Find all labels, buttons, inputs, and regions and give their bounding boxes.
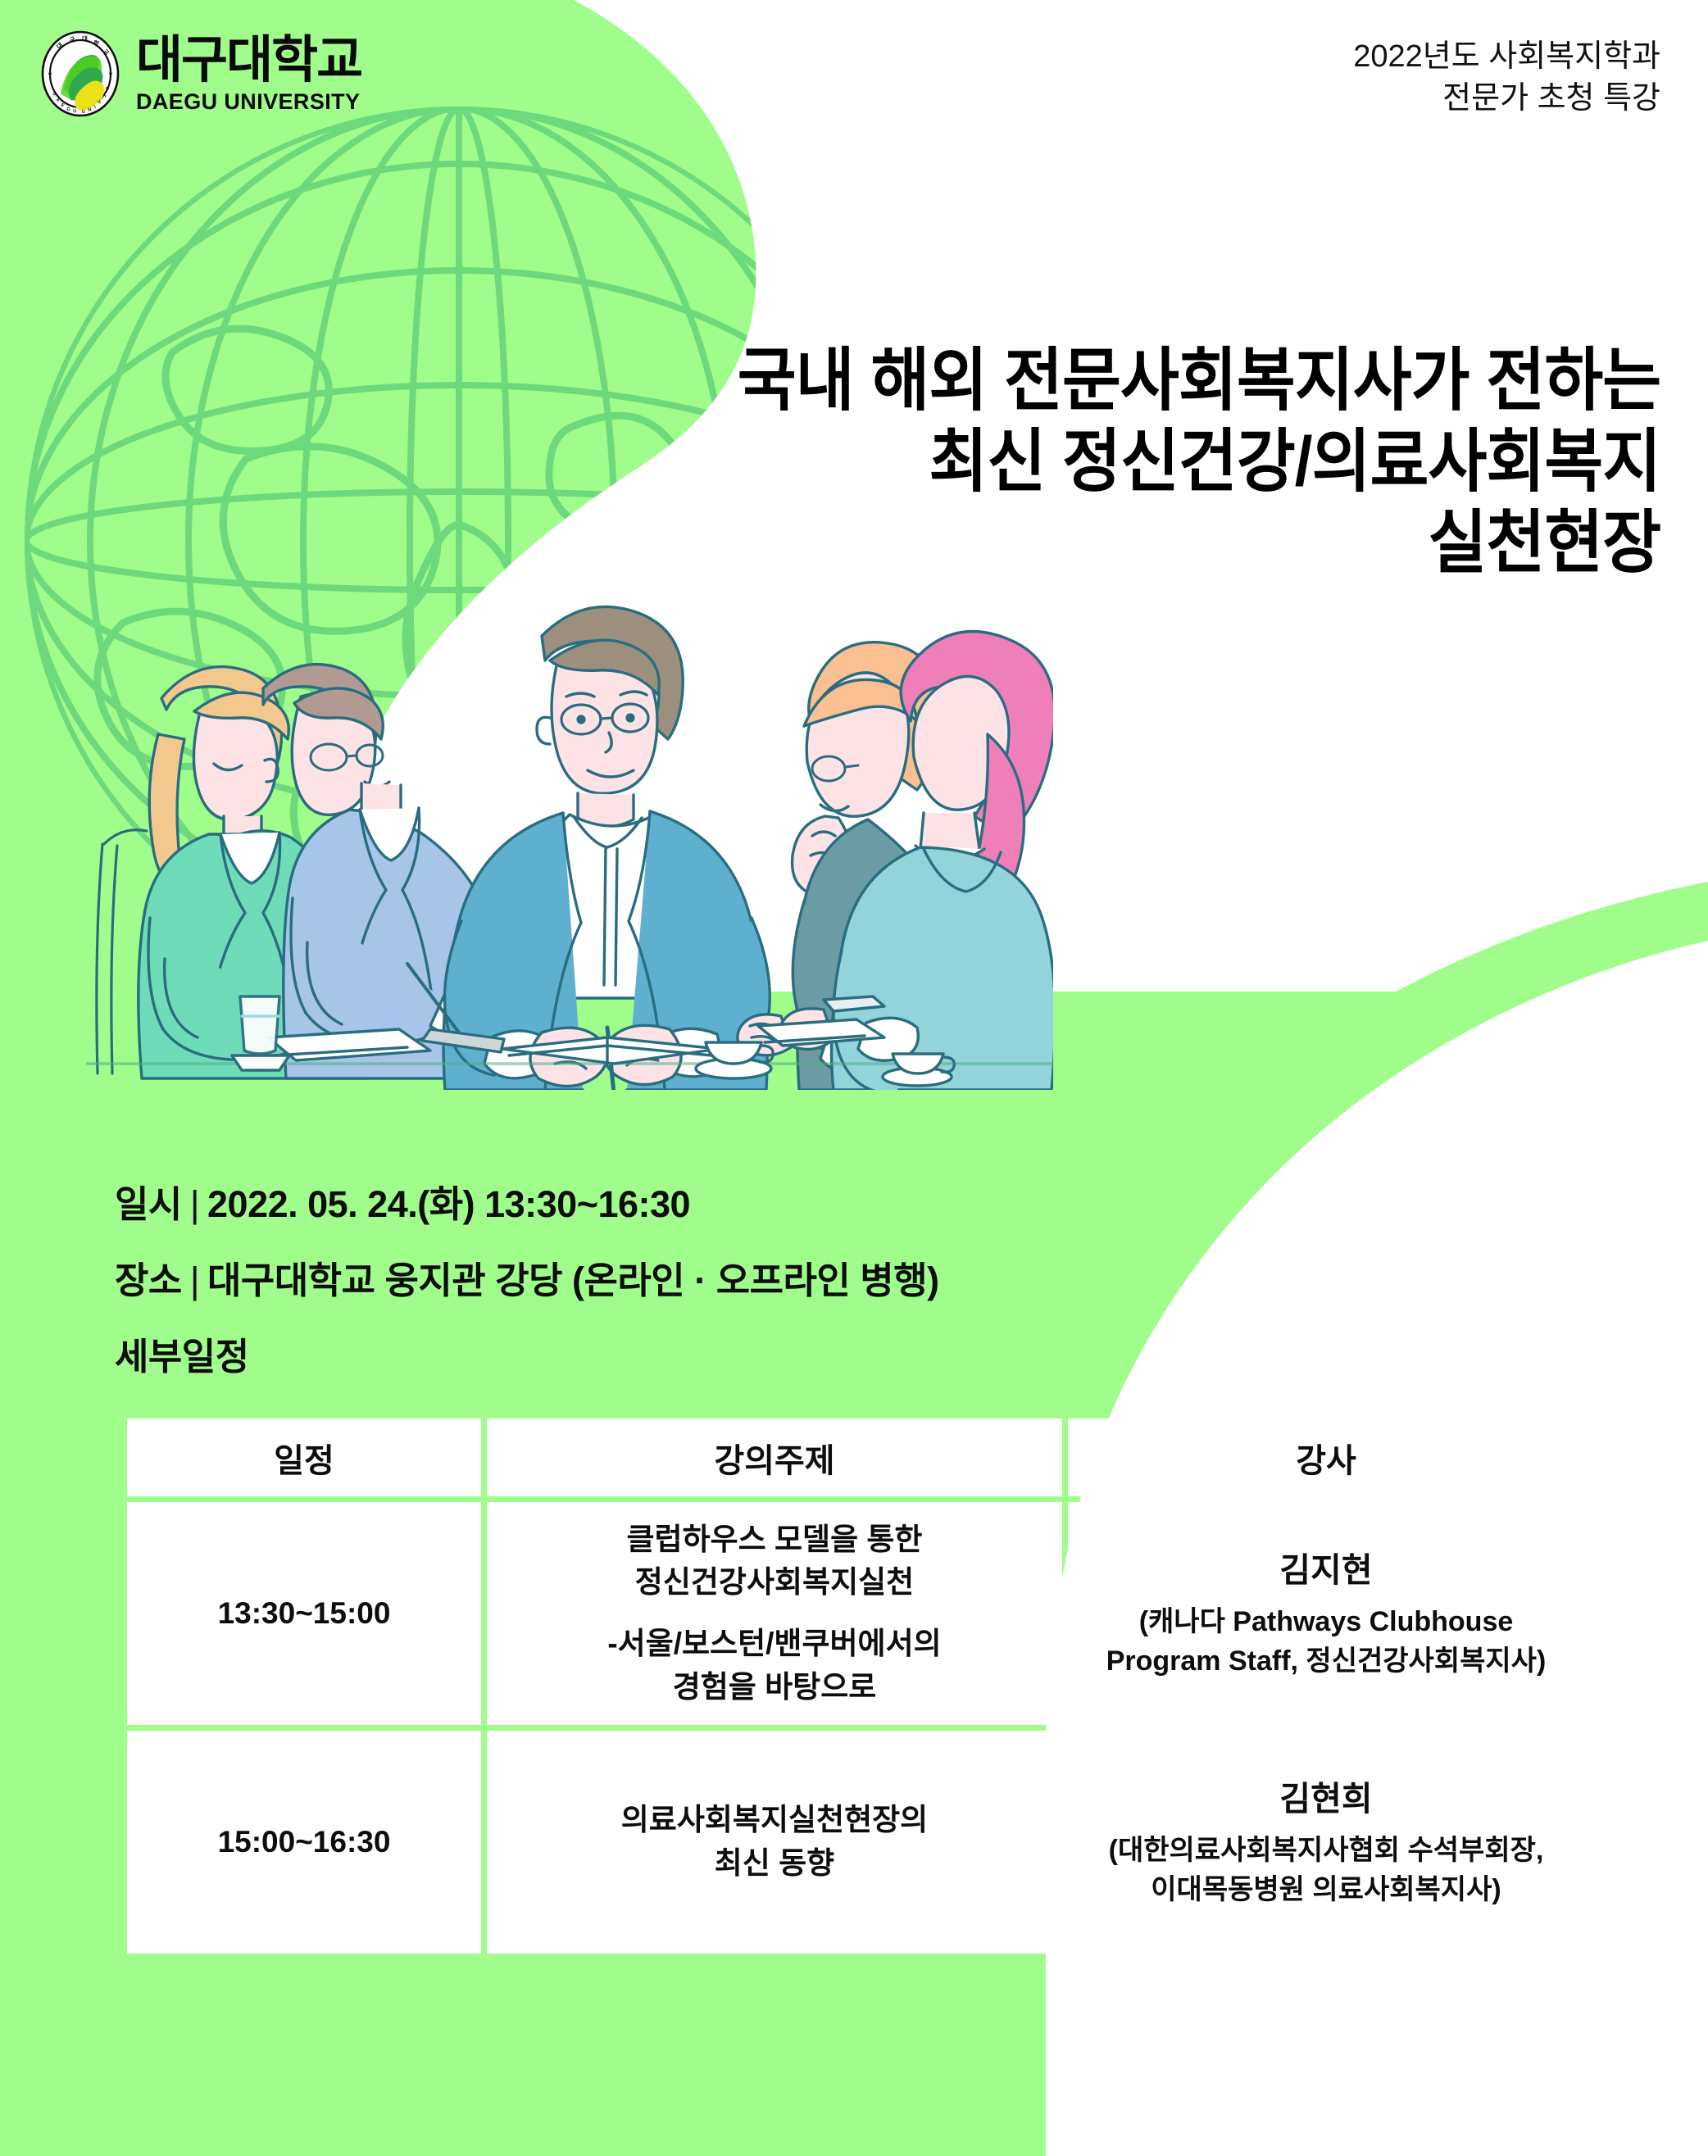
info-schedule-label: 세부일정 bbox=[115, 1327, 939, 1380]
table-row: 13:30~15:00 클럽하우스 모델을 통한 정신건강사회복지실천 -서울/… bbox=[127, 1502, 1584, 1725]
svg-text:U: U bbox=[73, 109, 77, 114]
row2-lecturer-affil-line1: (대한의료사회복지사협회 수석부회장, bbox=[1081, 1831, 1571, 1870]
schedule-table: 일정 강의주제 강사 13:30~15:00 클럽하우스 모델을 통한 정신건강… bbox=[121, 1413, 1590, 1959]
daegu-university-seal-icon: 대 구 대 학 교 D A E G U U N I V 1 9 bbox=[39, 30, 121, 118]
row1-topic-line-4: 경험을 바탕으로 bbox=[500, 1666, 1049, 1709]
row1-lecturer-affil-line1: (캐나다 Pathways Clubhouse bbox=[1081, 1602, 1571, 1641]
info-place-value: 대구대학교 웅지관 강당 (온라인 · 오프라인 병행) bbox=[207, 1260, 939, 1301]
logo-english-name: DAEGU UNIVERSITY bbox=[136, 91, 361, 113]
info-place-separator: | bbox=[182, 1260, 207, 1301]
header-note: 2022년도 사회복지학과 전문가 초청 특강 bbox=[1353, 36, 1660, 120]
university-logo: 대 구 대 학 교 D A E G U U N I V 1 9 bbox=[39, 30, 361, 118]
table-row: 15:00~16:30 의료사회복지실천현장의 최신 동향 김현희 (대한의료사… bbox=[127, 1731, 1584, 1954]
title-line-3: 실천현장 bbox=[738, 502, 1660, 583]
row2-lecturer: 김현희 (대한의료사회복지사협회 수석부회장, 이대목동병원 의료사회복지사) bbox=[1068, 1731, 1584, 1954]
row2-topic: 의료사회복지실천현장의 최신 동향 bbox=[487, 1731, 1062, 1954]
row2-lecturer-affil-line2: 이대목동병원 의료사회복지사) bbox=[1081, 1870, 1571, 1909]
row1-time: 13:30~15:00 bbox=[127, 1502, 481, 1725]
row1-topic-group-1: 클럽하우스 모델을 통한 정신건강사회복지실천 bbox=[500, 1518, 1049, 1605]
info-date-label: 일시 bbox=[115, 1183, 182, 1225]
logo-wordmark: 대구대학교 DAEGU UNIVERSITY bbox=[136, 35, 361, 113]
header-note-line1: 2022년도 사회복지학과 bbox=[1353, 36, 1660, 78]
header-note-line2: 전문가 초청 특강 bbox=[1353, 78, 1660, 120]
row1-lecturer: 김지현 (캐나다 Pathways Clubhouse Program Staf… bbox=[1068, 1502, 1584, 1725]
info-date-value: 2022. 05. 24.(화) 13:30~16:30 bbox=[207, 1183, 690, 1225]
row1-topic-line-2: 정신건강사회복지실천 bbox=[500, 1561, 1049, 1605]
schedule-header-time: 일정 bbox=[127, 1418, 481, 1496]
svg-text:U: U bbox=[82, 110, 86, 115]
row1-lecturer-affil-line2: Program Staff, 정신건강사회복지사) bbox=[1081, 1641, 1571, 1681]
row2-lecturer-name: 김현희 bbox=[1081, 1775, 1571, 1822]
meeting-illustration bbox=[86, 574, 1053, 1090]
row1-topic-group-2: -서울/보스턴/밴쿠버에서의 경험을 바탕으로 bbox=[500, 1623, 1049, 1709]
info-place-label: 장소 bbox=[115, 1260, 182, 1301]
info-place: 장소|대구대학교 웅지관 강당 (온라인 · 오프라인 병행) bbox=[115, 1250, 939, 1304]
row2-time: 15:00~16:30 bbox=[127, 1731, 481, 1954]
row1-lecturer-name: 김지현 bbox=[1081, 1546, 1571, 1594]
schedule-header-row: 일정 강의주제 강사 bbox=[127, 1418, 1584, 1496]
poster-root: 대 구 대 학 교 D A E G U U N I V 1 9 bbox=[0, 0, 1708, 2156]
row2-topic-line-2: 최신 동향 bbox=[500, 1842, 1049, 1886]
row2-topic-group-1: 의료사회복지실천현장의 최신 동향 bbox=[500, 1799, 1049, 1885]
logo-korean-name: 대구대학교 bbox=[136, 35, 361, 86]
info-date: 일시|2022. 05. 24.(화) 13:30~16:30 bbox=[115, 1174, 939, 1228]
poster-title: 국내 해외 전문사회복지사가 전하는 최신 정신건강/의료사회복지 실천현장 bbox=[738, 340, 1660, 583]
title-line-2: 최신 정신건강/의료사회복지 bbox=[738, 421, 1660, 502]
event-info: 일시|2022. 05. 24.(화) 13:30~16:30 장소|대구대학교… bbox=[115, 1174, 939, 1380]
info-date-separator: | bbox=[182, 1183, 207, 1225]
poster-header: 대 구 대 학 교 D A E G U U N I V 1 9 bbox=[0, 0, 1708, 156]
schedule-header-topic: 강의주제 bbox=[487, 1418, 1062, 1496]
schedule-header-lecturer: 강사 bbox=[1068, 1418, 1584, 1496]
title-line-1: 국내 해외 전문사회복지사가 전하는 bbox=[738, 340, 1660, 421]
row2-topic-line-1: 의료사회복지실천현장의 bbox=[500, 1799, 1049, 1842]
row1-topic: 클럽하우스 모델을 통한 정신건강사회복지실천 -서울/보스턴/밴쿠버에서의 경… bbox=[487, 1502, 1062, 1725]
person-man-center bbox=[443, 606, 770, 1090]
row1-topic-line-3: -서울/보스턴/밴쿠버에서의 bbox=[500, 1623, 1049, 1666]
row1-topic-line-1: 클럽하우스 모델을 통한 bbox=[500, 1518, 1049, 1562]
svg-text:대: 대 bbox=[82, 34, 88, 43]
